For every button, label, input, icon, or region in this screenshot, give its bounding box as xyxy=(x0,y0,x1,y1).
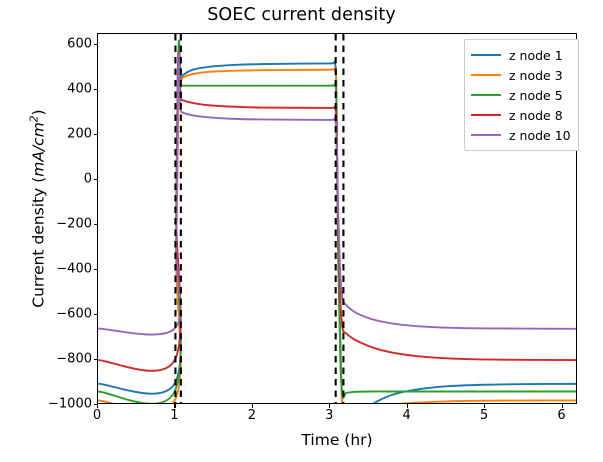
legend-item-label: z node 5 xyxy=(509,88,563,103)
y-tick-label: 0 xyxy=(42,172,92,187)
x-tick-mark xyxy=(407,404,408,408)
x-tick-label: 3 xyxy=(309,408,349,423)
legend-item-label: z node 3 xyxy=(509,68,563,83)
legend-item[interactable]: z node 5 xyxy=(471,85,571,105)
y-tick-mark xyxy=(94,134,98,135)
y-tick-label: 400 xyxy=(42,82,92,97)
x-tick-mark xyxy=(484,404,485,408)
x-axis-label: Time (hr) xyxy=(97,431,577,449)
legend-item[interactable]: z node 8 xyxy=(471,105,571,125)
legend-item[interactable]: z node 1 xyxy=(471,45,571,65)
y-tick-label: 200 xyxy=(42,127,92,142)
y-tick-label: 600 xyxy=(42,37,92,52)
legend-item-label: z node 8 xyxy=(509,108,563,123)
y-tick-mark xyxy=(94,179,98,180)
x-tick-mark xyxy=(174,404,175,408)
y-tick-mark xyxy=(94,44,98,45)
legend-item-label: z node 1 xyxy=(509,48,563,63)
x-tick-label: 4 xyxy=(387,408,427,423)
legend-item-label: z node 10 xyxy=(509,128,571,143)
y-tick-label: −600 xyxy=(42,307,92,322)
x-tick-label: 0 xyxy=(77,408,117,423)
x-tick-mark xyxy=(252,404,253,408)
y-tick-label: −200 xyxy=(42,217,92,232)
legend-color-swatch xyxy=(471,54,501,56)
x-tick-label: 6 xyxy=(542,408,582,423)
x-tick-mark xyxy=(562,404,563,408)
y-tick-label: −800 xyxy=(42,352,92,367)
y-tick-mark xyxy=(94,89,98,90)
y-tick-label: −400 xyxy=(42,262,92,277)
y-tick-mark xyxy=(94,314,98,315)
legend-color-swatch xyxy=(471,114,501,116)
y-axis-ticks: −1000−800−600−400−2000200400600 xyxy=(40,0,92,462)
legend-color-swatch xyxy=(471,74,501,76)
x-tick-mark xyxy=(97,404,98,408)
x-tick-label: 5 xyxy=(464,408,504,423)
legend: z node 1z node 3z node 5z node 8z node 1… xyxy=(464,39,579,151)
y-tick-mark xyxy=(94,224,98,225)
legend-color-swatch xyxy=(471,94,501,96)
x-tick-mark xyxy=(329,404,330,408)
x-tick-label: 2 xyxy=(232,408,272,423)
x-tick-label: 1 xyxy=(154,408,194,423)
chart-figure: SOEC current density Current density (mA… xyxy=(0,0,603,462)
legend-item[interactable]: z node 3 xyxy=(471,65,571,85)
y-axis-label-exponent: 2 xyxy=(28,116,40,123)
legend-color-swatch xyxy=(471,134,501,136)
legend-item[interactable]: z node 10 xyxy=(471,125,571,145)
y-tick-mark xyxy=(94,359,98,360)
y-tick-mark xyxy=(94,269,98,270)
